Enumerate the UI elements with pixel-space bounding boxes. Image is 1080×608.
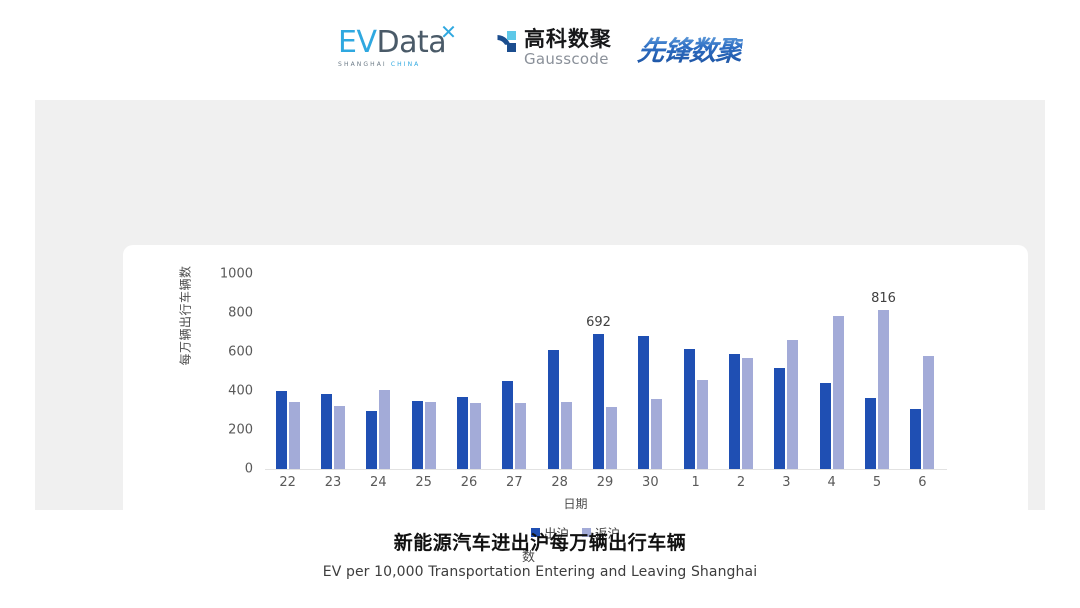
caption-title-en: EV per 10,000 Transportation Entering an… (0, 564, 1080, 580)
bar-group (900, 274, 945, 469)
bar-出沪-6 (910, 409, 921, 469)
bar-group (673, 274, 718, 469)
caption-block: 新能源汽车进出沪每万辆出行车辆 数 EV per 10,000 Transpor… (0, 528, 1080, 580)
logo-gausscode: 高科数聚 Gausscode (483, 29, 612, 67)
evdata-tagline-city: SHANGHAI (338, 61, 391, 68)
x-axis-tick-label: 1 (673, 475, 719, 490)
logo-bar: EV Data ✕ SHANGHAI CHINA 高科数聚 Gausscode … (0, 0, 1080, 96)
bar-出沪-5 (865, 398, 876, 469)
y-axis-tick-label: 200 (228, 423, 253, 438)
bar-group (265, 274, 310, 469)
x-axis-title: 日期 (123, 495, 1028, 512)
bar-返沪-22 (289, 402, 300, 469)
bar-返沪-26 (470, 403, 481, 469)
caption-artifact-glyph: 数 (522, 546, 535, 565)
evdata-ev-text: EV (338, 28, 376, 58)
y-axis-tick-label: 800 (228, 306, 253, 321)
x-axis-tick-label: 30 (627, 475, 673, 490)
y-axis-tick-label: 400 (228, 384, 253, 399)
bar-出沪-23 (321, 394, 332, 469)
bar-group (537, 274, 582, 469)
bar-group (718, 274, 763, 469)
bar-返沪-6 (923, 356, 934, 469)
bar-group (356, 274, 401, 469)
bar-返沪-4 (833, 316, 844, 469)
x-axis-tick-label: 28 (537, 475, 583, 490)
bar-出沪-4 (820, 383, 831, 469)
evdata-data-text: Data (377, 28, 447, 58)
bar-出沪-28 (548, 350, 559, 469)
x-axis-tick-label: 23 (310, 475, 356, 490)
x-axis-tick-label: 25 (401, 475, 447, 490)
x-axis-tick-label: 24 (355, 475, 401, 490)
evdata-tagline: SHANGHAI CHINA (338, 61, 420, 68)
bar-返沪-23 (334, 406, 345, 469)
x-axis-tick-label: 29 (582, 475, 628, 490)
x-axis-tick-label: 3 (763, 475, 809, 490)
bar-group (401, 274, 446, 469)
gausscode-g-mark-icon (483, 31, 517, 65)
x-axis-line (265, 469, 947, 470)
gausscode-cn-text: 高科数聚 (524, 29, 612, 50)
bar-返沪-30 (651, 399, 662, 469)
bar-chart: 每万辆出行车辆数 02004006008001000 日期 出沪返沪 22232… (123, 245, 1028, 559)
x-axis-tick-label: 2 (718, 475, 764, 490)
bar-group (764, 274, 809, 469)
caption-title-cn: 新能源汽车进出沪每万辆出行车辆 (0, 528, 1080, 555)
x-axis-tick-label: 27 (491, 475, 537, 490)
bar-返沪-29 (606, 407, 617, 469)
gausscode-en-text: Gausscode (524, 52, 612, 67)
bar-返沪-28 (561, 402, 572, 469)
evdata-wordmark: EV Data ✕ (338, 28, 457, 58)
bar-出沪-24 (366, 411, 377, 469)
bar-出沪-2 (729, 354, 740, 469)
x-axis-tick-label: 4 (809, 475, 855, 490)
bar-出沪-1 (684, 349, 695, 469)
bar-返沪-25 (425, 402, 436, 469)
evdata-tagline-country: CHINA (391, 61, 421, 68)
bar-出沪-29 (593, 334, 604, 469)
bar-出沪-22 (276, 391, 287, 469)
bar-返沪-2 (742, 358, 753, 469)
bar-group (446, 274, 491, 469)
bar-出沪-26 (457, 397, 468, 469)
bar-group (628, 274, 673, 469)
chart-panel-background: 每万辆出行车辆数 02004006008001000 日期 出沪返沪 22232… (35, 100, 1045, 510)
bar-group (310, 274, 355, 469)
x-axis-tick-label: 5 (854, 475, 900, 490)
bar-出沪-27 (502, 381, 513, 469)
x-axis-tick-label: 26 (446, 475, 492, 490)
y-axis-ticks: 02004006008001000 (213, 245, 259, 505)
bar-出沪-3 (774, 368, 785, 469)
bar-group (809, 274, 854, 469)
bar-返沪-1 (697, 380, 708, 469)
x-axis-tick-label: 22 (265, 475, 311, 490)
bar-出沪-25 (412, 401, 423, 469)
x-axis-tick-label: 6 (899, 475, 945, 490)
evdata-x-icon: ✕ (440, 22, 457, 42)
y-axis-tick-label: 0 (245, 462, 253, 477)
y-axis-title: 每万辆出行车辆数 (177, 246, 194, 386)
chart-card: 每万辆出行车辆数 02004006008001000 日期 出沪返沪 22232… (123, 245, 1028, 559)
y-axis-tick-label: 1000 (220, 267, 253, 282)
y-axis-tick-label: 600 (228, 345, 253, 360)
bar-group: 816 (854, 274, 899, 469)
bar-返沪-3 (787, 340, 798, 469)
bar-返沪-24 (379, 390, 390, 469)
bar-group (492, 274, 537, 469)
bar-出沪-30 (638, 336, 649, 469)
bar-value-label: 692 (568, 315, 628, 330)
bar-group: 692 (582, 274, 627, 469)
bar-返沪-27 (515, 403, 526, 469)
bar-返沪-5 (878, 310, 889, 469)
logo-evdata: EV Data ✕ SHANGHAI CHINA (338, 28, 457, 68)
logo-xianfeng: 先锋数聚 (636, 29, 744, 68)
